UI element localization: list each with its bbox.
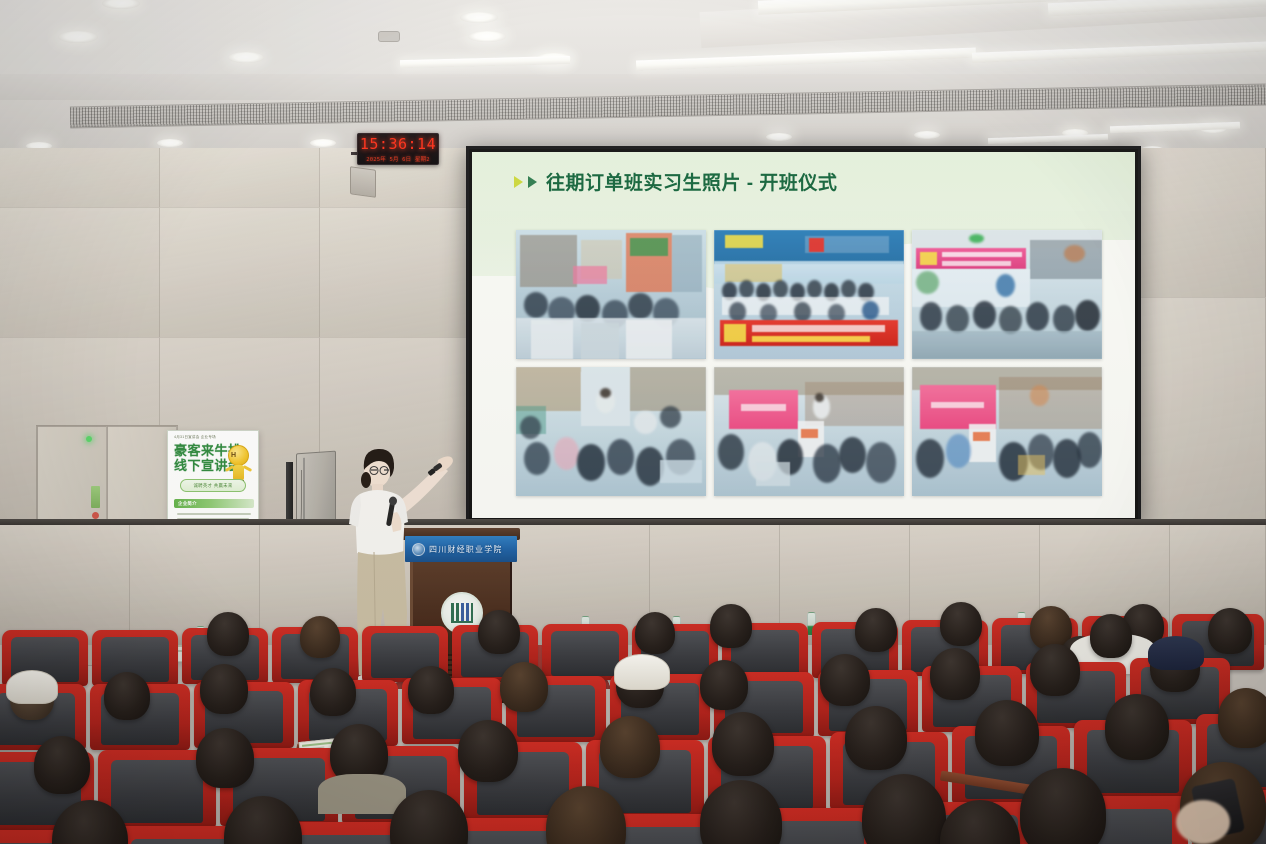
white-cap-icon: [614, 654, 670, 690]
wall-panel: [320, 208, 470, 338]
downlight: [914, 131, 940, 139]
right-wall-section: [1140, 148, 1266, 568]
door-notice-sign: [91, 486, 100, 508]
led-wall-clock: 15:36:14 2025年 5月 6日 星期2: [357, 133, 439, 165]
ceiling: [0, 0, 1266, 152]
attendee-shoulders: [318, 774, 406, 814]
slide-photo: [714, 367, 904, 496]
attendee-head: [34, 736, 90, 794]
attendee-head: [930, 648, 980, 700]
attendee-head: [855, 608, 897, 652]
downlight: [310, 139, 336, 147]
attendee-head: [310, 668, 356, 716]
presentation-slide: 往期订单班实习生照片 - 开班仪式: [472, 152, 1135, 518]
downlight: [228, 52, 264, 63]
attendee-head: [1105, 694, 1169, 760]
attendee-head: [458, 720, 518, 782]
downlight: [157, 139, 183, 147]
rollup-top-tag: 4月31日宣讲会 企业专场: [174, 435, 216, 440]
clock-time: 15:36:14: [358, 137, 438, 152]
rollup-section-1-title: 企业简介: [178, 501, 197, 507]
attendee-head: [200, 664, 248, 714]
attendee-head: [1030, 644, 1080, 696]
wall-panel: [160, 148, 320, 208]
attendee-head: [1090, 614, 1132, 658]
photo-content: [516, 367, 706, 496]
door-red-marker-icon: [92, 512, 99, 519]
attendee-head: [207, 612, 249, 656]
white-cap-icon: [6, 670, 58, 704]
attendee-head: [500, 662, 548, 712]
wall-panel: [0, 148, 160, 208]
attendee-head: [196, 728, 254, 788]
slide-photo: [912, 367, 1102, 496]
attendee-head: [1218, 688, 1266, 748]
rollup-section-1-bar: 企业简介: [174, 499, 254, 508]
attendee-head: [710, 604, 752, 648]
mascot-face: H: [231, 452, 236, 459]
triangle-bullet-yellow-icon: [514, 176, 523, 188]
wall-panel: [0, 208, 160, 338]
photo-content: [912, 367, 1102, 496]
attendee-head: [820, 654, 870, 706]
attendee-head: [300, 616, 340, 658]
mascot-arm-right: [243, 465, 252, 472]
attendee-head: [635, 612, 675, 654]
slide-photo-grid: [516, 230, 1102, 496]
auditorium-scene: 15:36:14 2025年 5月 6日 星期2 往期订单班实习生照片 - 开班…: [0, 0, 1266, 844]
wall-panel: [160, 208, 320, 338]
downlight: [460, 12, 498, 23]
attendee-head: [1208, 608, 1252, 654]
photo-content: [516, 230, 706, 359]
photo-content: [714, 230, 904, 359]
attendee-head: [700, 660, 748, 710]
downlight: [58, 31, 98, 43]
triangle-bullet-green-icon: [528, 176, 537, 188]
rollup-slogan-text: 诚聘英才 共赢未来: [193, 483, 232, 489]
attendee-head: [478, 610, 520, 654]
slide-photo: [912, 230, 1102, 359]
wall-speaker: [350, 166, 376, 198]
projection-screen: 往期订单班实习生照片 - 开班仪式: [466, 146, 1141, 524]
clock-date: 2025年 5月 6日 星期2: [358, 155, 438, 163]
door-indicator-icon: [86, 436, 92, 442]
attendee-head: [600, 716, 660, 778]
downlight: [468, 31, 506, 42]
photo-content: [912, 230, 1102, 359]
slide-title: 往期订单班实习生照片 - 开班仪式: [546, 168, 837, 195]
wall-panel: [1140, 148, 1266, 298]
attendee-head: [104, 672, 150, 720]
audience-area: [0, 600, 1266, 844]
downlight: [766, 133, 792, 141]
attendee-head: [408, 666, 454, 714]
attendee-head: [975, 700, 1039, 766]
smoke-detector-icon: [378, 31, 400, 42]
rollup-slogan-pill: 诚聘英才 共赢未来: [180, 479, 246, 492]
slide-photo: [516, 367, 706, 496]
photo-content: [714, 367, 904, 496]
attendee-head: [845, 706, 907, 770]
attendee-head: [940, 602, 982, 646]
navy-cap-icon: [1148, 636, 1204, 670]
hand: [1176, 800, 1230, 844]
attendee-head: [712, 712, 774, 776]
slide-photo: [516, 230, 706, 359]
slide-photo: [714, 230, 904, 359]
slide-title-row: 往期订单班实习生照片 - 开班仪式: [514, 168, 837, 195]
